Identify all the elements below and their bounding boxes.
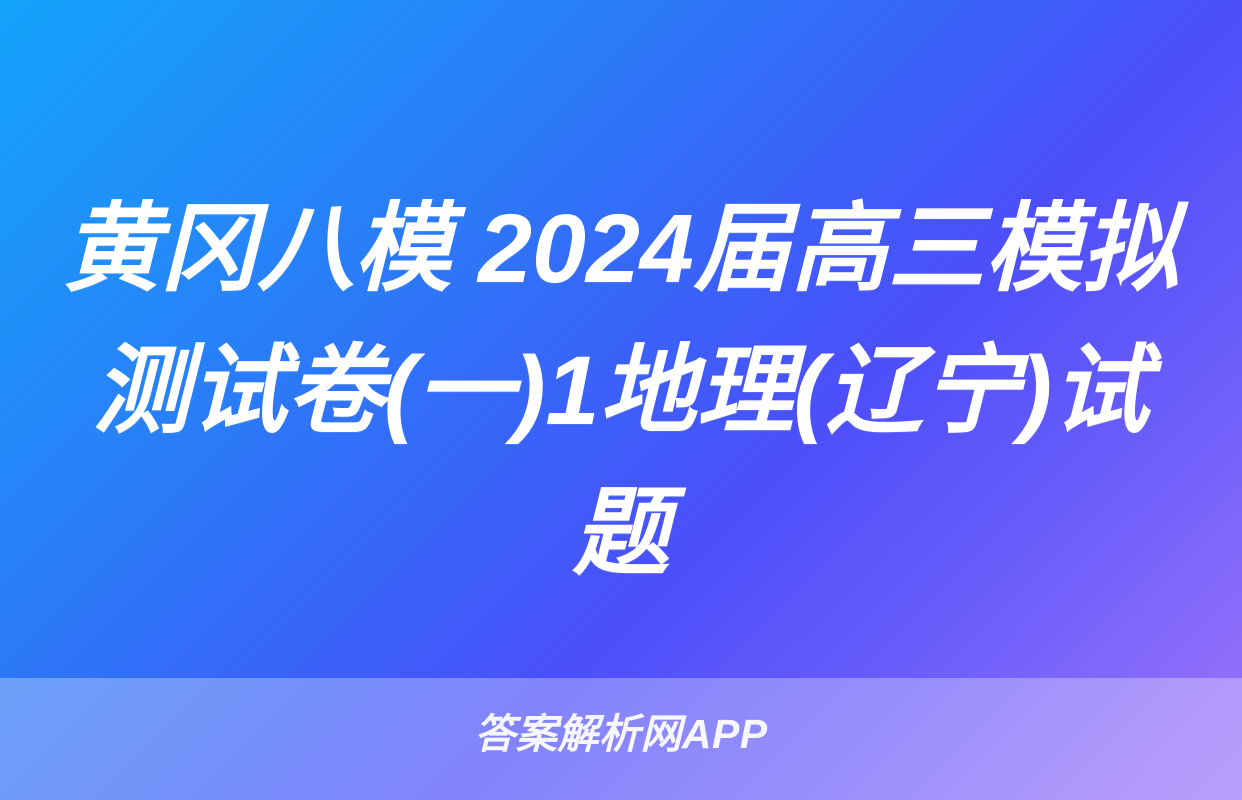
watermark-label: 答案解析网APP — [474, 712, 767, 756]
title-block: 黄冈八模 2024届高三模拟测试卷(一)1地理(辽宁)试题 — [0, 178, 1242, 628]
watermark-block: 答案解析网APP — [0, 704, 1242, 764]
share-card: 黄冈八模 2024届高三模拟测试卷(一)1地理(辽宁)试题 答案解析网APP — [0, 0, 1242, 800]
page-title: 黄冈八模 2024届高三模拟测试卷(一)1地理(辽宁)试题 — [62, 178, 1180, 604]
